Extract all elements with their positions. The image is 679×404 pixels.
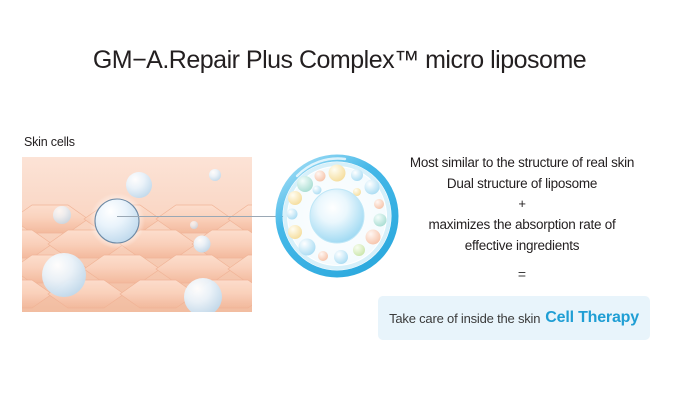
cell-therapy-callout: Take care of inside the skin Cell Therap… bbox=[378, 296, 650, 340]
callout-label: Take care of inside the skin bbox=[389, 311, 540, 326]
connector-line bbox=[117, 216, 285, 217]
description-line-3: maximizes the absorption rate of bbox=[388, 214, 656, 235]
callout-highlight: Cell Therapy bbox=[545, 309, 639, 327]
skin-cells-label: Skin cells bbox=[24, 135, 75, 149]
description-line-4: effective ingredients bbox=[388, 235, 656, 256]
description-text: Most similar to the structure of real sk… bbox=[388, 152, 656, 256]
skin-cells-illustration bbox=[22, 157, 252, 312]
plus-operator: + bbox=[388, 194, 656, 214]
skin-hexagon-pattern bbox=[22, 157, 252, 312]
micro-liposome-diagram bbox=[273, 152, 401, 280]
description-line-1: Most similar to the structure of real sk… bbox=[388, 152, 656, 173]
equals-operator: = bbox=[388, 266, 656, 282]
page-title: GM−A.Repair Plus Complex™ micro liposome bbox=[0, 46, 679, 75]
description-line-2: Dual structure of liposome bbox=[388, 173, 656, 194]
